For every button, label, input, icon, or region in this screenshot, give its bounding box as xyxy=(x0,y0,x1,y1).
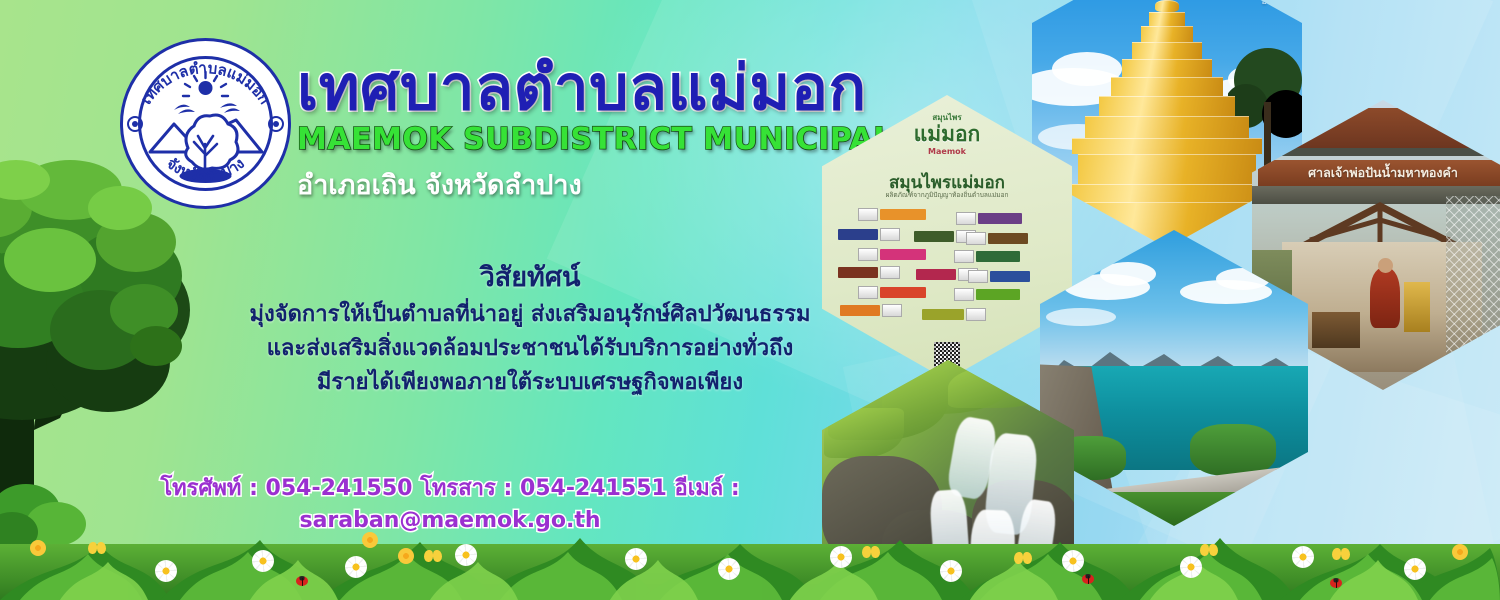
yellow-flower xyxy=(30,540,46,556)
ladybug xyxy=(1082,574,1094,584)
pagoda-overlay-caption: วัดท… บ้านทุ่ง… อำเภ… xyxy=(1241,0,1290,8)
vision-line: และส่งเสริมสิ่งแวดล้อมประชาชนได้รับบริกา… xyxy=(180,332,880,366)
photo-collage: วัดท… บ้านทุ่ง… อำเภ… สมุนไพร แม่มอก Mae… xyxy=(800,0,1500,580)
yellow-flower xyxy=(362,532,378,548)
butterfly xyxy=(1200,544,1218,558)
vision-statement: วิสัยทัศน์ มุ่งจัดการให้เป็นตำบลที่น่าอย… xyxy=(180,255,880,400)
ladybug xyxy=(1330,578,1342,588)
butterfly xyxy=(1014,552,1032,566)
pagoda-caption-line3: อำเภ… xyxy=(1241,0,1290,8)
yellow-flower xyxy=(1452,544,1468,560)
vision-line: มีรายได้เพียงพอภายใต้ระบบเศรษฐกิจพอเพียง xyxy=(180,366,880,400)
butterfly xyxy=(88,542,106,556)
poster-subtitle: ผลิตภัณฑ์จากภูมิปัญญาท้องถิ่นตำบลแม่มอก xyxy=(822,190,1072,200)
daisy-flower xyxy=(345,556,367,578)
poster-logo-mark: แม่มอก xyxy=(887,124,1007,145)
daisy-flower xyxy=(1292,546,1314,568)
poster-product-grid xyxy=(836,207,1058,327)
butterfly xyxy=(424,550,442,564)
grass-border xyxy=(0,514,1500,600)
daisy-flower xyxy=(940,560,962,582)
municipality-seal: เทศบาลตำบลแม่มอก จังหวัดลำปาง xyxy=(118,36,293,211)
poster-logo: สมุนไพร แม่มอก Maemok xyxy=(887,111,1007,156)
butterfly xyxy=(1332,548,1350,562)
daisy-flower xyxy=(455,544,477,566)
daisy-flower xyxy=(718,558,740,580)
daisy-flower xyxy=(155,560,177,582)
yellow-flower xyxy=(398,548,414,564)
vision-line: มุ่งจัดการให้เป็นตำบลที่น่าอยู่ ส่งเสริม… xyxy=(180,298,880,332)
poster-logo-sub: Maemok xyxy=(887,147,1007,156)
daisy-flower xyxy=(1062,550,1084,572)
daisy-flower xyxy=(1180,556,1202,578)
shrine-sign-text: ศาลเจ้าพ่อปันน้ำมหาทองคำ xyxy=(1308,163,1458,183)
daisy-flower xyxy=(625,548,647,570)
daisy-flower xyxy=(1404,558,1426,580)
shrine-sign: ศาลเจ้าพ่อปันน้ำมหาทองคำ xyxy=(1258,160,1500,186)
ladybug xyxy=(296,576,308,586)
daisy-flower xyxy=(252,550,274,572)
municipality-banner: เทศบาลตำบลแม่มอก จังหวัดลำปาง เทศบาลตำบล… xyxy=(0,0,1500,600)
vision-heading: วิสัยทัศน์ xyxy=(180,255,880,298)
daisy-flower xyxy=(830,546,852,568)
butterfly xyxy=(862,546,880,560)
